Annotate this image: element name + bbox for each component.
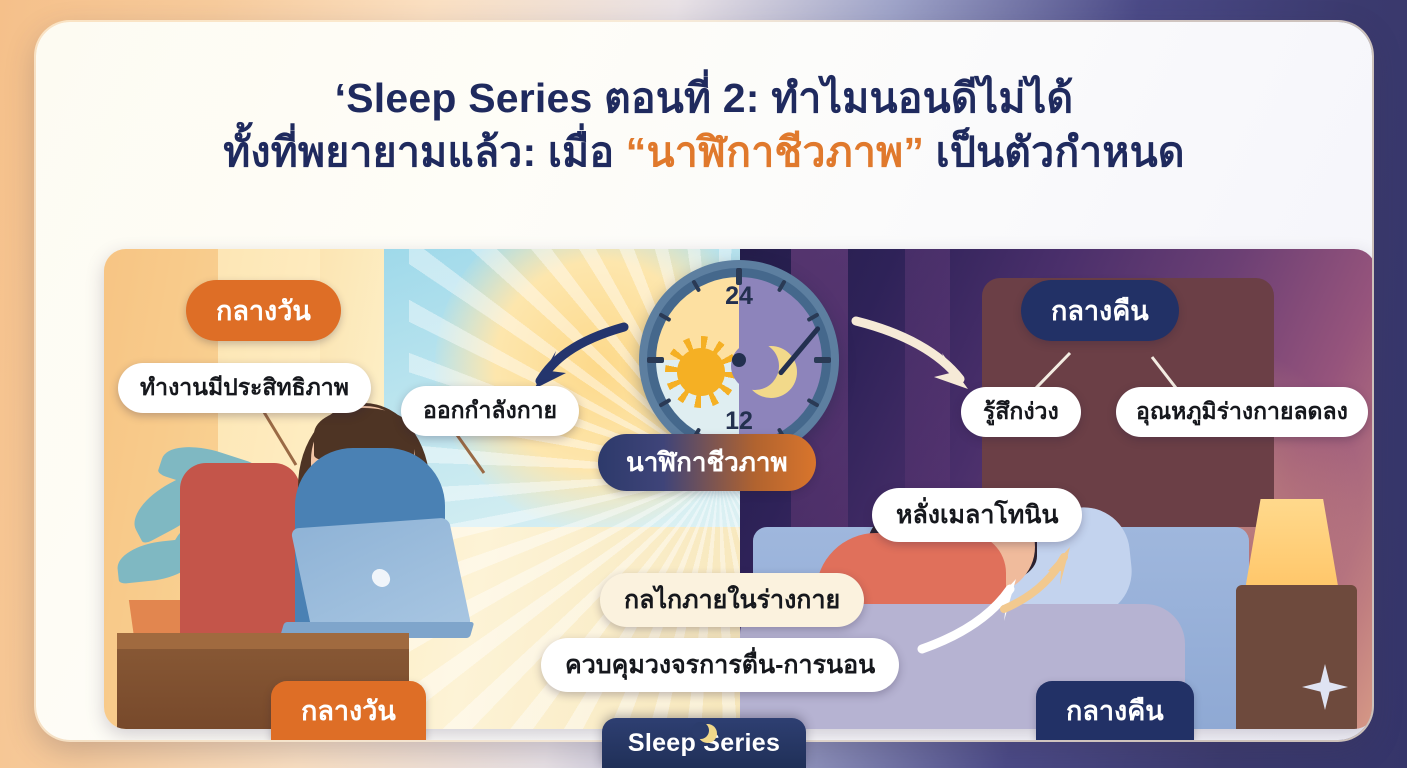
tag-productive-work[interactable]: ทำงานมีประสิทธิภาพ [118, 363, 371, 413]
clock-number-12: 12 [725, 407, 753, 436]
tag-feeling-sleepy[interactable]: รู้สึกง่วง [961, 387, 1081, 437]
laptop-logo [370, 568, 392, 587]
moon-icon [698, 724, 717, 743]
page-title: ‘Sleep Series ตอนที่ 2: ทำไมนอนดีไม่ได้ … [36, 74, 1372, 177]
tag-exercise[interactable]: ออกกำลังกาย [401, 386, 579, 436]
moon-icon [745, 346, 797, 398]
title-highlight: “นาฬิกาชีวภาพ” [626, 129, 924, 175]
badge-day-bottom[interactable]: กลางวัน [271, 681, 426, 740]
title-line-2-after: เป็นตัวกำหนด [924, 129, 1185, 175]
badge-biological-clock[interactable]: นาฬิกาชีวภาพ [598, 434, 816, 491]
office-chair [180, 463, 300, 643]
clock-tick [814, 357, 831, 363]
tag-internal-mechanism[interactable]: กลไกภายในร่างกาย [600, 573, 864, 627]
nightstand [1236, 585, 1357, 729]
infographic-frame: ‘Sleep Series ตอนที่ 2: ทำไมนอนดีไม่ได้ … [0, 0, 1407, 768]
tag-body-temp-drop[interactable]: อุณหภูมิร่างกายลดลง [1116, 387, 1368, 437]
infographic-card: ‘Sleep Series ตอนที่ 2: ทำไมนอนดีไม่ได้ … [36, 22, 1372, 740]
biological-clock: 24 12 [639, 260, 839, 460]
badge-night-bottom[interactable]: กลางคืน [1036, 681, 1194, 740]
badge-day-top[interactable]: กลางวัน [186, 280, 341, 341]
title-line-2-before: ทั้งที่พยายามแล้ว: เมื่อ [223, 129, 626, 175]
sun-icon [677, 348, 725, 396]
tag-sleep-wake-cycle[interactable]: ควบคุมวงจรการตื่น-การนอน [541, 638, 899, 692]
title-line-1: ‘Sleep Series ตอนที่ 2: ทำไมนอนดีไม่ได้ [36, 74, 1372, 122]
brand-banner[interactable]: Sleep Series [602, 718, 806, 768]
desk-top [117, 633, 410, 649]
bedside-lamp [1246, 499, 1338, 585]
clock-number-24: 24 [725, 282, 753, 311]
clock-hub [732, 353, 746, 367]
title-line-2: ทั้งที่พยายามแล้ว: เมื่อ “นาฬิกาชีวภาพ” … [36, 128, 1372, 176]
badge-night-top[interactable]: กลางคืน [1021, 280, 1179, 341]
tag-melatonin-release[interactable]: หลั่งเมลาโทนิน [872, 488, 1082, 542]
laptop-screen [291, 518, 472, 639]
clock-tick [647, 357, 664, 363]
